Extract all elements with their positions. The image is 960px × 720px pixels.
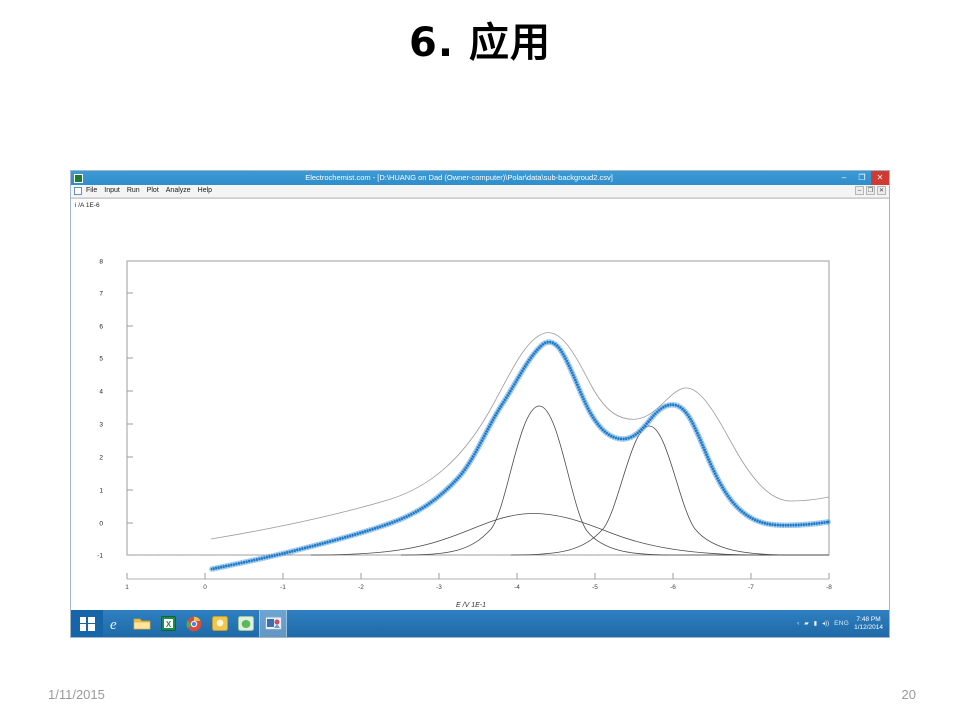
start-button[interactable] <box>71 610 103 637</box>
clock-time: 7:48 PM <box>854 616 883 624</box>
plot-frame <box>127 261 829 555</box>
menu-item-analyze[interactable]: Analyze <box>166 185 191 197</box>
tray-show-hidden-icon[interactable]: ‹ <box>797 621 799 627</box>
svg-text:-3: -3 <box>436 584 442 591</box>
green-app-icon[interactable] <box>233 610 259 637</box>
taskbar-clock[interactable]: 7:48 PM 1/12/2014 <box>854 616 883 632</box>
svg-text:-4: -4 <box>514 584 520 591</box>
svg-text:6: 6 <box>99 324 103 331</box>
menu-item-plot[interactable]: Plot <box>147 185 159 197</box>
system-tray: ‹ ▰ ▮ ◂)) ENG 7:48 PM 1/12/2014 <box>797 616 889 632</box>
svg-text:-2: -2 <box>358 584 364 591</box>
svg-text:-5: -5 <box>592 584 598 591</box>
tray-network-icon[interactable]: ▰ <box>804 620 809 627</box>
tray-language-indicator[interactable]: ENG <box>834 620 849 627</box>
svg-text:3: 3 <box>99 422 103 429</box>
mdi-document-icon <box>74 187 82 195</box>
x-axis-label: E /V 1E-1 <box>456 602 486 609</box>
page-title: 6. 应用 <box>0 16 960 70</box>
svg-text:-8: -8 <box>826 584 832 591</box>
yellow-app-icon[interactable] <box>207 610 233 637</box>
svg-text:4: 4 <box>99 389 103 396</box>
windows-taskbar: e X <box>71 610 889 637</box>
app-system-menu-icon[interactable] <box>74 174 83 183</box>
window-restore-button[interactable]: ❐ <box>853 171 871 185</box>
svg-text:1: 1 <box>99 488 103 495</box>
window-minimize-button[interactable]: – <box>835 171 853 185</box>
excel-icon[interactable]: X <box>155 610 181 637</box>
mdi-minimize-button[interactable]: – <box>855 186 864 195</box>
application-window-screenshot: Electrochemist.com - [D:\HUANG on Dad (O… <box>70 170 890 638</box>
file-explorer-icon[interactable] <box>129 610 155 637</box>
svg-text:-6: -6 <box>670 584 676 591</box>
svg-text:-1: -1 <box>280 584 286 591</box>
mdi-restore-button[interactable]: ❐ <box>866 186 875 195</box>
polarogram-chart[interactable]: 8 7 6 5 4 3 2 1 0 -1 1 0 -1 -2 -3 -4 -5 <box>71 199 889 612</box>
svg-text:1: 1 <box>125 584 129 591</box>
slide-page-number: 20 <box>902 687 916 702</box>
svg-text:-1: -1 <box>97 553 103 560</box>
menu-item-file[interactable]: File <box>86 185 97 197</box>
svg-text:0: 0 <box>203 584 207 591</box>
tray-volume-icon[interactable]: ◂)) <box>822 620 829 627</box>
svg-text:5: 5 <box>99 356 103 363</box>
menu-item-help[interactable]: Help <box>198 185 212 197</box>
svg-text:7: 7 <box>99 291 103 298</box>
x-axis: 1 0 -1 -2 -3 -4 -5 -6 -7 -8 <box>125 573 832 591</box>
mdi-close-button[interactable]: ✕ <box>877 186 886 195</box>
slide-footer-date: 1/11/2015 <box>48 687 105 702</box>
svg-text:X: X <box>165 620 171 629</box>
tray-action-center-icon[interactable]: ▮ <box>814 620 817 627</box>
window-close-button[interactable]: ✕ <box>871 171 889 185</box>
clock-date: 1/12/2014 <box>854 624 883 632</box>
menu-item-input[interactable]: Input <box>104 185 120 197</box>
menu-bar: File Input Run Plot Analyze Help – ❐ ✕ <box>71 185 889 198</box>
svg-text:2: 2 <box>99 455 103 462</box>
windows-logo-icon <box>80 617 95 631</box>
svg-text:e: e <box>110 617 117 632</box>
menu-item-run[interactable]: Run <box>127 185 140 197</box>
plot-client-area[interactable]: i /A 1E-6 8 7 6 5 4 3 2 1 0 -1 <box>71 198 889 612</box>
svg-text:-7: -7 <box>748 584 754 591</box>
window-title-bar: Electrochemist.com - [D:\HUANG on Dad (O… <box>71 171 889 185</box>
svg-text:8: 8 <box>99 259 103 266</box>
svg-text:0: 0 <box>99 521 103 528</box>
chrome-icon[interactable] <box>181 610 207 637</box>
internet-explorer-icon[interactable]: e <box>103 610 129 637</box>
electrochemist-app-icon[interactable] <box>259 610 287 637</box>
mdi-window-controls: – ❐ ✕ <box>855 186 886 195</box>
window-title-text: Electrochemist.com - [D:\HUANG on Dad (O… <box>83 171 835 185</box>
